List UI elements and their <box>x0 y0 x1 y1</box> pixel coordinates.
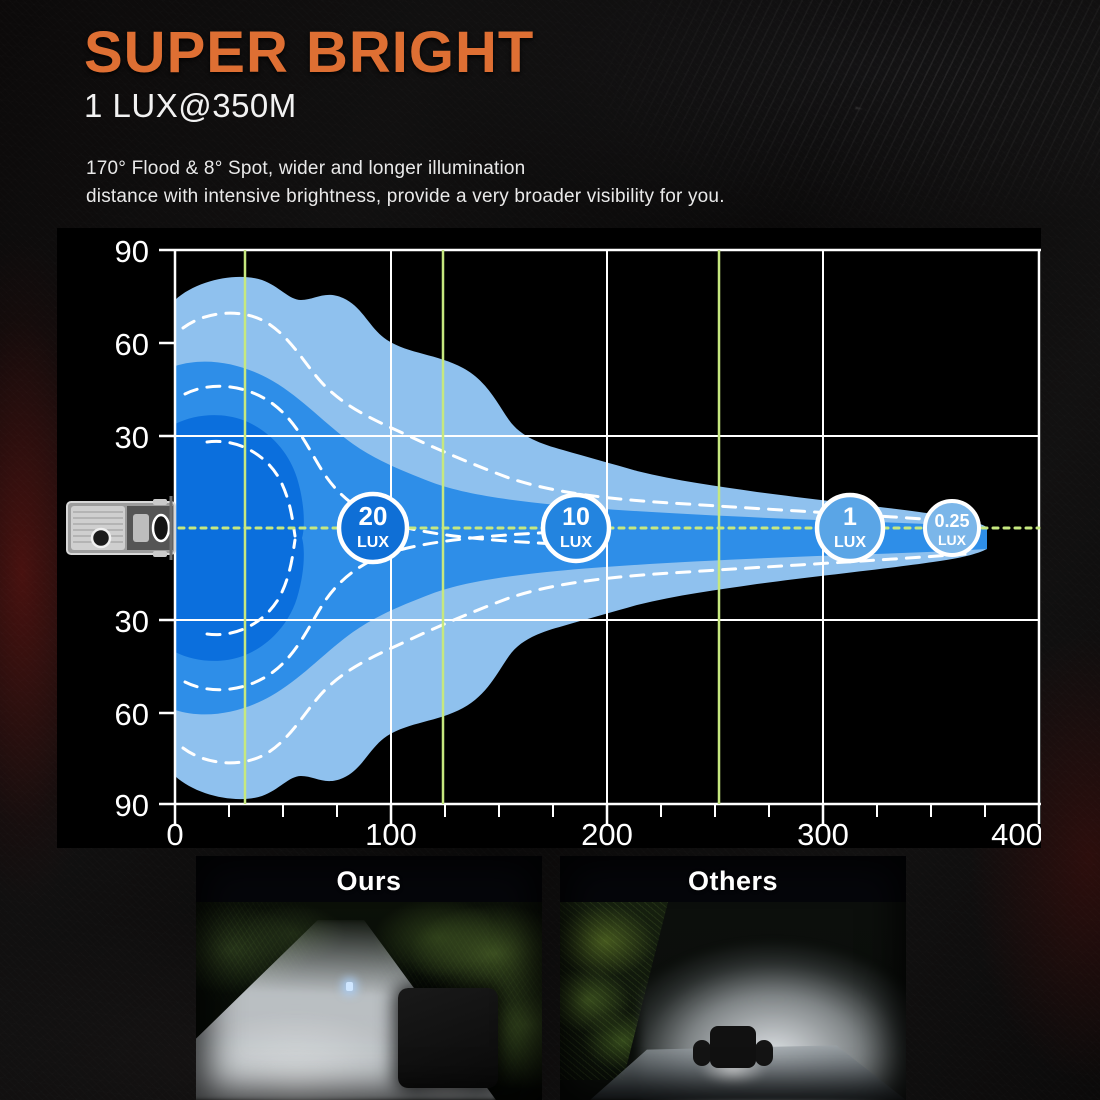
lux-marker-20-value: 20 <box>359 501 388 531</box>
x-tick-label-300: 300 <box>797 817 849 848</box>
comparison-label-others: Others <box>560 866 906 897</box>
description-line-1: 170° Flood & 8° Spot, wider and longer i… <box>86 155 725 183</box>
page-subtitle: 1 LUX@350M <box>84 88 534 124</box>
comparison-photo-others[interactable]: Others <box>560 856 906 1100</box>
description-line-2: distance with intensive brightness, prov… <box>86 183 725 211</box>
y-tick-label-90-bottom: 90 <box>115 788 149 823</box>
y-tick-label-30-bottom: 30 <box>115 604 149 639</box>
description-block: 170° Flood & 8° Spot, wider and longer i… <box>86 155 725 210</box>
lux-marker-025-unit: LUX <box>938 532 967 548</box>
y-tick-label-60-top: 60 <box>115 327 149 362</box>
comparison-photo-ours[interactable]: Ours <box>196 856 542 1100</box>
lux-marker-1-unit: LUX <box>834 534 866 551</box>
ours-distant-light <box>346 982 353 991</box>
lux-marker-1-value: 1 <box>843 503 857 531</box>
led-light-bar-icon <box>67 496 175 560</box>
y-tick-label-90-top: 90 <box>115 234 149 269</box>
lux-marker-025-value: 0.25 <box>934 511 969 531</box>
x-tick-label-0: 0 <box>166 817 183 848</box>
y-tick-label-60-bottom: 60 <box>115 697 149 732</box>
others-lamp-housing <box>710 1026 756 1068</box>
beam-pattern-chart: 20 LUX 10 LUX 1 LUX 0.25 LUX 90 <box>57 228 1041 848</box>
lux-marker-20[interactable]: 20 LUX <box>339 494 407 562</box>
lux-marker-025[interactable]: 0.25 LUX <box>925 501 979 555</box>
others-lamp-wing-right <box>755 1040 773 1066</box>
lux-marker-10-unit: LUX <box>560 534 592 551</box>
y-tick-label-30-top: 30 <box>115 420 149 455</box>
comparison-label-ours: Ours <box>196 866 542 897</box>
page-title: SUPER BRIGHT <box>84 24 534 82</box>
x-tick-label-400: 400 <box>991 817 1041 848</box>
headline-block: SUPER BRIGHT 1 LUX@350M <box>84 24 534 124</box>
comparison-photo-row: Ours Others <box>196 856 906 1100</box>
beam-chart-svg: 20 LUX 10 LUX 1 LUX 0.25 LUX 90 <box>57 228 1041 848</box>
x-tick-label-200: 200 <box>581 817 633 848</box>
others-lamp-wing-left <box>693 1040 711 1066</box>
ours-lamp-housing <box>398 988 498 1088</box>
lux-marker-20-unit: LUX <box>357 534 389 551</box>
x-tick-label-100: 100 <box>365 817 417 848</box>
lux-marker-1[interactable]: 1 LUX <box>817 495 883 561</box>
lux-marker-10-value: 10 <box>562 503 590 531</box>
lux-marker-10[interactable]: 10 LUX <box>543 495 609 561</box>
